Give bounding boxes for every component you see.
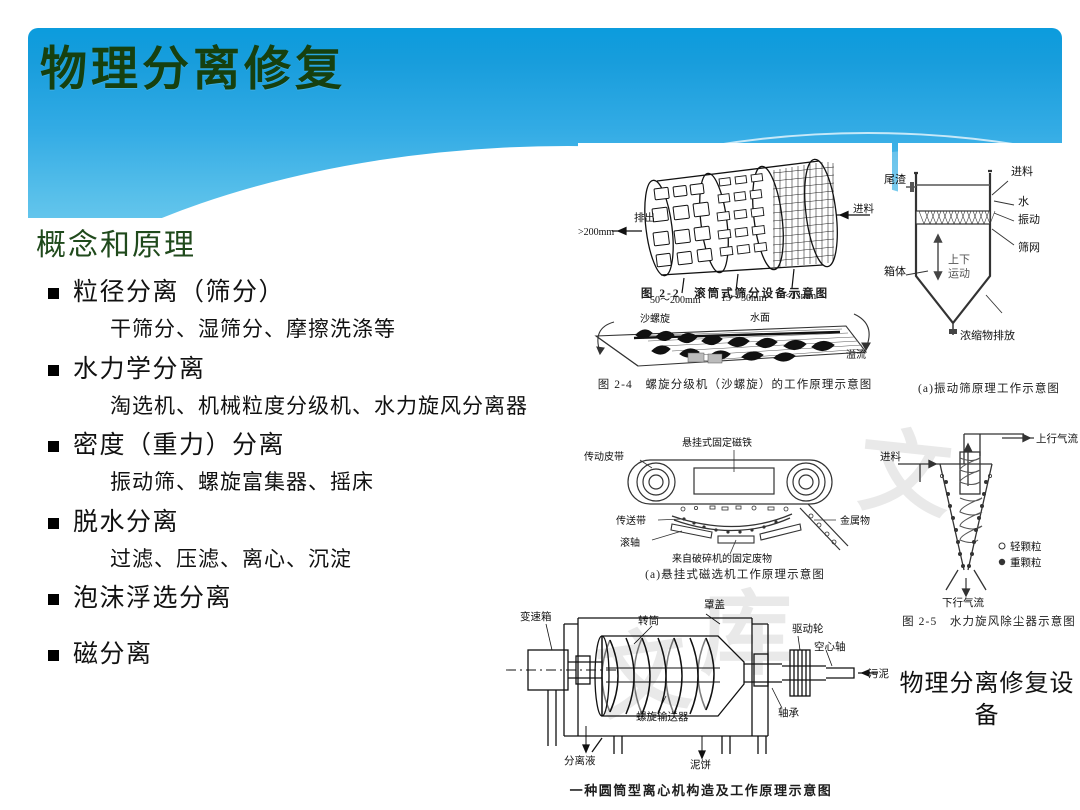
figure-caption-hydrocyclone: 图 2-5 水力旋风除尘器示意图 bbox=[898, 613, 1080, 629]
figure-magnetic-separator: 悬挂式固定磁铁 传动皮带 传送带 滚轴 来自破碎机的固定废物 金属物 bbox=[578, 424, 892, 562]
list-item: 泡沫浮选分离 bbox=[0, 580, 590, 618]
label-cover: 罩盖 bbox=[704, 598, 725, 611]
bullet-label: 粒径分离（筛分） bbox=[73, 274, 285, 312]
equipment-caption: 物理分离修复设备 bbox=[898, 668, 1076, 733]
bullet-list: 粒径分离（筛分） 干筛分、湿筛分、摩擦洗涤等 水力学分离 淘选机、机械粒度分级机… bbox=[0, 274, 590, 674]
label-mud-cake: 泥饼 bbox=[690, 758, 711, 771]
figure-caption-vibrating-screen: (a)振动筛原理工作示意图 bbox=[898, 380, 1080, 396]
square-bullet-icon bbox=[48, 594, 59, 605]
label-updown-2: 运动 bbox=[948, 267, 970, 280]
bullet-label: 泡沫浮选分离 bbox=[73, 580, 232, 618]
square-bullet-icon bbox=[48, 365, 59, 376]
list-item: 磁分离 bbox=[0, 636, 590, 674]
label-size-range-2: 13～50mm bbox=[721, 293, 767, 304]
square-bullet-icon bbox=[48, 288, 59, 299]
bullet-sub-label: 振动筛、螺旋富集器、摇床 bbox=[0, 467, 590, 499]
label-suspended-magnet: 悬挂式固定磁铁 bbox=[682, 436, 752, 449]
label-water-surface: 水面 bbox=[750, 312, 770, 324]
figure-spiral-classifier: 沙螺旋 水面 溢流 bbox=[578, 308, 892, 376]
label-bearing: 轴承 bbox=[778, 706, 799, 719]
label-box: 箱体 bbox=[884, 264, 906, 278]
watermark-glyph: 文 bbox=[587, 594, 697, 739]
label-sand-spiral: 沙螺旋 bbox=[640, 312, 670, 325]
label-roller: 滚轴 bbox=[620, 536, 640, 549]
bullet-label: 密度（重力）分离 bbox=[73, 427, 285, 465]
label-hollow-shaft: 空心轴 bbox=[814, 640, 846, 653]
list-item: 脱水分离 bbox=[0, 504, 590, 542]
label-up-flow: 上行气流 bbox=[1036, 432, 1078, 445]
figure-hydrocyclone: 进料 上行气流 轻颗粒 重颗粒 下行气流 bbox=[898, 412, 1080, 608]
section-heading: 概念和原理 bbox=[36, 228, 590, 264]
watermark-glyph: 库 bbox=[700, 560, 792, 693]
label-feed: 进料 bbox=[880, 450, 901, 463]
square-bullet-icon bbox=[48, 441, 59, 452]
bullet-sub-label: 干筛分、湿筛分、摩擦洗涤等 bbox=[0, 314, 590, 346]
slide-canvas: 物理分离修复 概念和原理 粒径分离（筛分） 干筛分、湿筛分、摩擦洗涤等 水力学分… bbox=[0, 0, 1080, 810]
list-item: 水力学分离 bbox=[0, 351, 590, 389]
bullet-label: 磁分离 bbox=[73, 636, 153, 674]
label-light-particles: 轻颗粒 bbox=[1010, 540, 1042, 553]
label-drum: 转筒 bbox=[638, 614, 659, 627]
figure-caption-centrifuge: 一种圆筒型离心机构造及工作原理示意图 bbox=[506, 780, 896, 799]
bullet-label: 脱水分离 bbox=[73, 504, 179, 542]
watermark-glyph: 文 bbox=[853, 396, 958, 538]
label-updown-1: 上下 bbox=[948, 253, 970, 266]
label-screw-conveyor: 螺旋输送器 bbox=[636, 710, 689, 723]
label-crusher-waste: 来自破碎机的固定废物 bbox=[672, 552, 772, 565]
content-body: 概念和原理 粒径分离（筛分） 干筛分、湿筛分、摩擦洗涤等 水力学分离 淘选机、机… bbox=[0, 228, 590, 676]
bullet-sub-label: 淘选机、机械粒度分级机、水力旋风分离器 bbox=[0, 391, 590, 423]
bullet-label: 水力学分离 bbox=[73, 351, 206, 389]
label-overflow: 溢流 bbox=[846, 348, 866, 361]
figure-caption-drum-screen: 图 2-2 滚筒式筛分设备示意图 bbox=[578, 285, 892, 301]
label-concentrate-discharge: 浓缩物排放 bbox=[960, 328, 1015, 342]
label-separated-liquid: 分离液 bbox=[564, 754, 596, 767]
label-down-flow: 下行气流 bbox=[942, 596, 984, 609]
label-size-range-3: <13mm bbox=[785, 291, 816, 302]
label-mesh: 筛网 bbox=[1018, 240, 1040, 254]
label-size-range-1: 50～200mm bbox=[650, 295, 701, 306]
list-item: 密度（重力）分离 bbox=[0, 427, 590, 465]
bullet-sub-label: 过滤、压滤、离心、沉淀 bbox=[0, 544, 590, 576]
label-conveyor-belt: 传送带 bbox=[616, 514, 646, 527]
label-drive-wheel: 驱动轮 bbox=[792, 622, 824, 635]
label-heavy-particles: 重颗粒 bbox=[1010, 556, 1042, 569]
label-drive-belt: 传动皮带 bbox=[584, 450, 624, 463]
figure-caption-magnetic-separator: (a)悬挂式磁选机工作原理示意图 bbox=[578, 566, 892, 582]
list-item: 粒径分离（筛分） bbox=[0, 274, 590, 312]
label-metal: 金属物 bbox=[840, 514, 870, 527]
page-title: 物理分离修复 bbox=[40, 44, 346, 96]
figure-caption-spiral-classifier: 图 2-4 螺旋分级机（沙螺旋）的工作原理示意图 bbox=[578, 376, 892, 392]
square-bullet-icon bbox=[48, 650, 59, 661]
square-bullet-icon bbox=[48, 518, 59, 529]
label-sludge: 污泥 bbox=[868, 667, 889, 680]
